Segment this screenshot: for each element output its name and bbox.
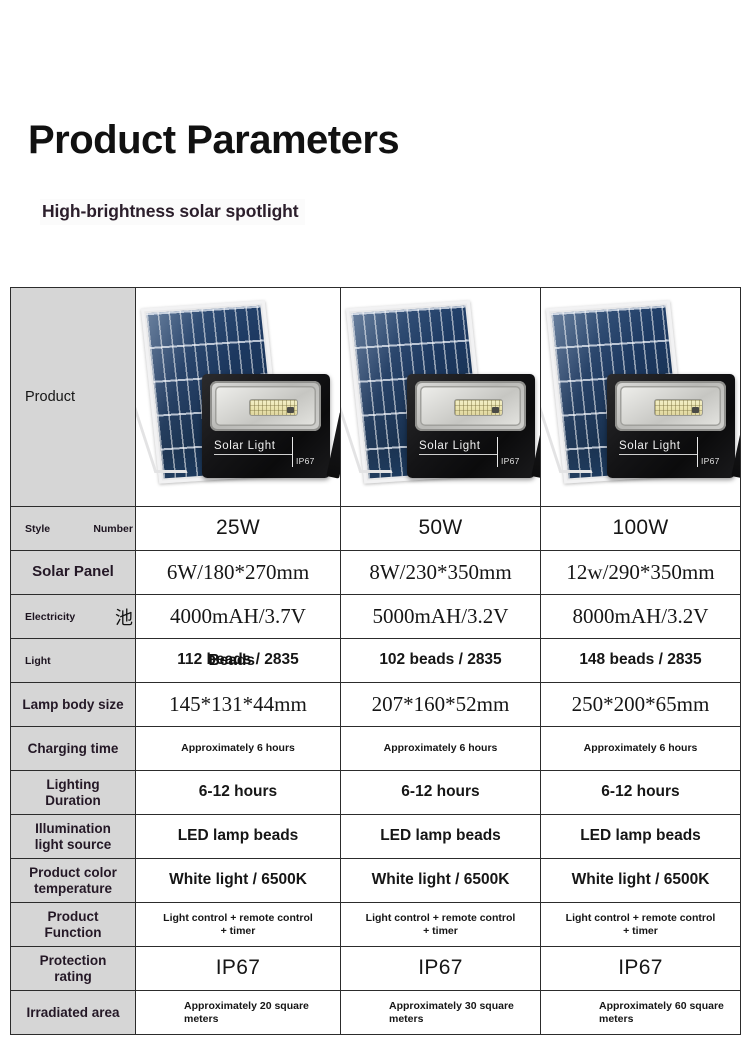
- cell-beads-100w: 148 beads / 2835: [541, 639, 741, 683]
- table-row: Charging time Approximately 6 hours Appr…: [11, 727, 741, 771]
- row-label-text: Lighting Duration: [23, 775, 123, 809]
- cell-style-100w: 100W: [541, 507, 741, 551]
- cell-value: Approximately 20 square meters: [136, 997, 340, 1028]
- cell-value: 25W: [136, 513, 340, 544]
- row-label-text: Protection rating: [25, 951, 121, 985]
- table-row: Product Solar Light: [11, 288, 741, 507]
- page-subtitle: High-brightness solar spotlight: [40, 199, 305, 225]
- floodlight-brand-tick: [697, 437, 698, 467]
- floodlight-brand-underline: [214, 454, 292, 455]
- table-row: Protection rating IP67 IP67 IP67: [11, 947, 741, 991]
- cell-battery-50w: 5000mAH/3.2V: [341, 595, 541, 639]
- row-label-product-function: Product Function: [11, 903, 136, 947]
- light-sensor-icon: [492, 407, 499, 413]
- table-row: Solar Panel 6W/180*270mm 8W/230*350mm 12…: [11, 551, 741, 595]
- cell-beads-50w: 102 beads / 2835: [341, 639, 541, 683]
- row-label-text: Lamp body size: [11, 695, 135, 714]
- cell-value: LED lamp beads: [341, 824, 540, 848]
- cell-value: IP67: [341, 953, 540, 984]
- floodlight-brand-text: Solar Light: [419, 440, 481, 452]
- product-image-cell-100w: Solar Light IP67: [541, 288, 741, 507]
- row-label-irradiated-area: Irradiated area: [11, 991, 136, 1035]
- row-label-lighting-duration: Lighting Duration: [11, 771, 136, 815]
- cell-charging-50w: Approximately 6 hours: [341, 727, 541, 771]
- cell-value: IP67: [541, 953, 740, 984]
- table-row: Illumination light source LED lamp beads…: [11, 815, 741, 859]
- cell-value: LED lamp beads: [136, 824, 340, 848]
- cell-solar-panel-100w: 12w/290*350mm: [541, 551, 741, 595]
- cell-area-50w: Approximately 30 square meters: [341, 991, 541, 1035]
- cell-function-50w: Light control + remote control + timer: [341, 903, 541, 947]
- cell-value: White light / 6500K: [136, 868, 340, 892]
- cell-duration-100w: 6-12 hours: [541, 771, 741, 815]
- row-label-text-right: Beads: [208, 652, 255, 670]
- cell-solar-panel-50w: 8W/230*350mm: [341, 551, 541, 595]
- row-label-text: Product color temperature: [15, 863, 131, 897]
- cell-battery-100w: 8000mAH/3.2V: [541, 595, 741, 639]
- cell-value: Light control + remote control + timer: [360, 909, 522, 940]
- floodlight-reflector: [210, 381, 321, 431]
- cell-value: Light control + remote control + timer: [157, 909, 319, 940]
- cell-value: 6-12 hours: [341, 780, 540, 804]
- light-sensor-icon: [287, 407, 294, 413]
- table-row: Electricity 池 4000mAH/3.7V 5000mAH/3.2V …: [11, 595, 741, 639]
- cell-battery-25w: 4000mAH/3.7V: [136, 595, 341, 639]
- floodlight-brand-underline: [619, 454, 697, 455]
- row-label-text: Solar Panel: [11, 562, 135, 583]
- cell-area-100w: Approximately 60 square meters: [541, 991, 741, 1035]
- floodlight-reflector: [615, 381, 726, 431]
- floodlight-ip-text: IP67: [701, 456, 720, 466]
- cell-value: Approximately 6 hours: [172, 739, 304, 757]
- row-label-text-left: Light: [25, 655, 51, 667]
- light-sensor-icon: [692, 407, 699, 413]
- row-label-text: Charging time: [11, 739, 135, 758]
- cell-value: 6W/180*270mm: [136, 557, 340, 588]
- floodlight-brand-underline: [419, 454, 497, 455]
- row-label-text-left: Style: [25, 523, 50, 535]
- row-label-style-number: Style Number: [11, 507, 136, 551]
- cell-protection-100w: IP67: [541, 947, 741, 991]
- cell-source-25w: LED lamp beads: [136, 815, 341, 859]
- row-label-text: Product Function: [31, 907, 115, 941]
- row-label-split: Electricity 池: [11, 604, 135, 630]
- table-row: Irradiated area Approximately 20 square …: [11, 991, 741, 1035]
- cell-protection-25w: IP67: [136, 947, 341, 991]
- cell-value: IP67: [136, 953, 340, 984]
- row-label-lamp-body-size: Lamp body size: [11, 683, 136, 727]
- row-label-split: Light: [11, 655, 135, 667]
- product-parameters-table: Product Solar Light: [10, 287, 741, 1035]
- row-label-protection-rating: Protection rating: [11, 947, 136, 991]
- cell-style-50w: 50W: [341, 507, 541, 551]
- cell-lamp-size-50w: 207*160*52mm: [341, 683, 541, 727]
- cell-value: 8000mAH/3.2V: [541, 601, 740, 632]
- floodlight-brand-tick: [497, 437, 498, 467]
- floodlight-ip-text: IP67: [501, 456, 520, 466]
- floodlight-brand-text: Solar Light: [214, 440, 276, 452]
- table-row: Product Function Light control + remote …: [11, 903, 741, 947]
- cell-duration-50w: 6-12 hours: [341, 771, 541, 815]
- floodlight-reflector: [415, 381, 526, 431]
- product-image-cell-50w: Solar Light IP67: [341, 288, 541, 507]
- cell-style-25w: 25W: [136, 507, 341, 551]
- cell-value: Approximately 60 square meters: [541, 997, 740, 1028]
- cell-protection-50w: IP67: [341, 947, 541, 991]
- cell-value: 12w/290*350mm: [541, 557, 740, 588]
- cell-value: 4000mAH/3.7V: [136, 601, 340, 632]
- row-label-solar-panel: Solar Panel: [11, 551, 136, 595]
- row-label-text-left: Electricity: [25, 611, 75, 623]
- cell-duration-25w: 6-12 hours: [136, 771, 341, 815]
- cell-value: Approximately 6 hours: [375, 739, 507, 757]
- cell-color-temp-50w: White light / 6500K: [341, 859, 541, 903]
- floodlight-reflector-inner: [620, 386, 721, 426]
- table-row: Product color temperature White light / …: [11, 859, 741, 903]
- row-label-text-right: 池: [115, 604, 133, 630]
- cell-color-temp-25w: White light / 6500K: [136, 859, 341, 903]
- cell-source-50w: LED lamp beads: [341, 815, 541, 859]
- row-label-text: Irradiated area: [11, 1003, 135, 1022]
- row-label-light-beads: Light Beads: [11, 639, 136, 683]
- cell-area-25w: Approximately 20 square meters: [136, 991, 341, 1035]
- cell-value: 50W: [341, 513, 540, 544]
- row-label-color-temperature: Product color temperature: [11, 859, 136, 903]
- floodlight-reflector-inner: [420, 386, 521, 426]
- cell-value: Light control + remote control + timer: [560, 909, 722, 940]
- product-image-cell-25w: Solar Light IP67: [136, 288, 341, 507]
- cell-solar-panel-25w: 6W/180*270mm: [136, 551, 341, 595]
- cell-color-temp-100w: White light / 6500K: [541, 859, 741, 903]
- floodlight-bracket: [326, 411, 340, 478]
- product-photo: Solar Light IP67: [541, 288, 740, 506]
- cell-lamp-size-100w: 250*200*65mm: [541, 683, 741, 727]
- cell-value: White light / 6500K: [341, 868, 540, 892]
- row-label-illumination-source: Illumination light source: [11, 815, 136, 859]
- cell-value: 145*131*44mm: [136, 689, 340, 720]
- row-label-text: Product: [11, 387, 135, 407]
- cell-value: 148 beads / 2835: [541, 648, 740, 672]
- cell-value: 6-12 hours: [136, 780, 340, 804]
- cell-charging-100w: Approximately 6 hours: [541, 727, 741, 771]
- floodlight-graphic: Solar Light IP67: [407, 374, 535, 478]
- cell-function-100w: Light control + remote control + timer: [541, 903, 741, 947]
- cell-lamp-size-25w: 145*131*44mm: [136, 683, 341, 727]
- floodlight-reflector-inner: [215, 386, 316, 426]
- table-row: Light Beads 112 beads / 2835 102 beads /…: [11, 639, 741, 683]
- table-row: Lighting Duration 6-12 hours 6-12 hours …: [11, 771, 741, 815]
- cell-function-25w: Light control + remote control + timer: [136, 903, 341, 947]
- cell-source-100w: LED lamp beads: [541, 815, 741, 859]
- row-label-charging-time: Charging time: [11, 727, 136, 771]
- floodlight-bracket: [731, 411, 740, 478]
- floodlight-ip-text: IP67: [296, 456, 315, 466]
- cell-value: 100W: [541, 513, 740, 544]
- row-label-electricity: Electricity 池: [11, 595, 136, 639]
- cell-value: Approximately 6 hours: [575, 739, 707, 757]
- row-label-product: Product: [11, 288, 136, 507]
- cell-value: White light / 6500K: [541, 868, 740, 892]
- cell-value: 6-12 hours: [541, 780, 740, 804]
- row-label-split: Style Number: [11, 523, 135, 535]
- table-row: Lamp body size 145*131*44mm 207*160*52mm…: [11, 683, 741, 727]
- cell-value: Approximately 30 square meters: [341, 997, 540, 1028]
- cell-value: 5000mAH/3.2V: [341, 601, 540, 632]
- cell-charging-25w: Approximately 6 hours: [136, 727, 341, 771]
- cell-value: LED lamp beads: [541, 824, 740, 848]
- floodlight-graphic: Solar Light IP67: [202, 374, 330, 478]
- row-label-text: Illumination light source: [19, 819, 127, 853]
- floodlight-bracket: [531, 411, 540, 478]
- floodlight-graphic: Solar Light IP67: [607, 374, 735, 478]
- cell-value: 102 beads / 2835: [341, 648, 540, 672]
- cell-value: 207*160*52mm: [341, 689, 540, 720]
- row-label-text-right: Number: [93, 523, 133, 535]
- cell-value: 8W/230*350mm: [341, 557, 540, 588]
- floodlight-brand-text: Solar Light: [619, 440, 681, 452]
- product-photo: Solar Light IP67: [136, 288, 340, 506]
- product-photo: Solar Light IP67: [341, 288, 540, 506]
- table-row: Style Number 25W 50W 100W: [11, 507, 741, 551]
- floodlight-brand-tick: [292, 437, 293, 467]
- page-title: Product Parameters: [28, 118, 399, 163]
- cell-value: 250*200*65mm: [541, 689, 740, 720]
